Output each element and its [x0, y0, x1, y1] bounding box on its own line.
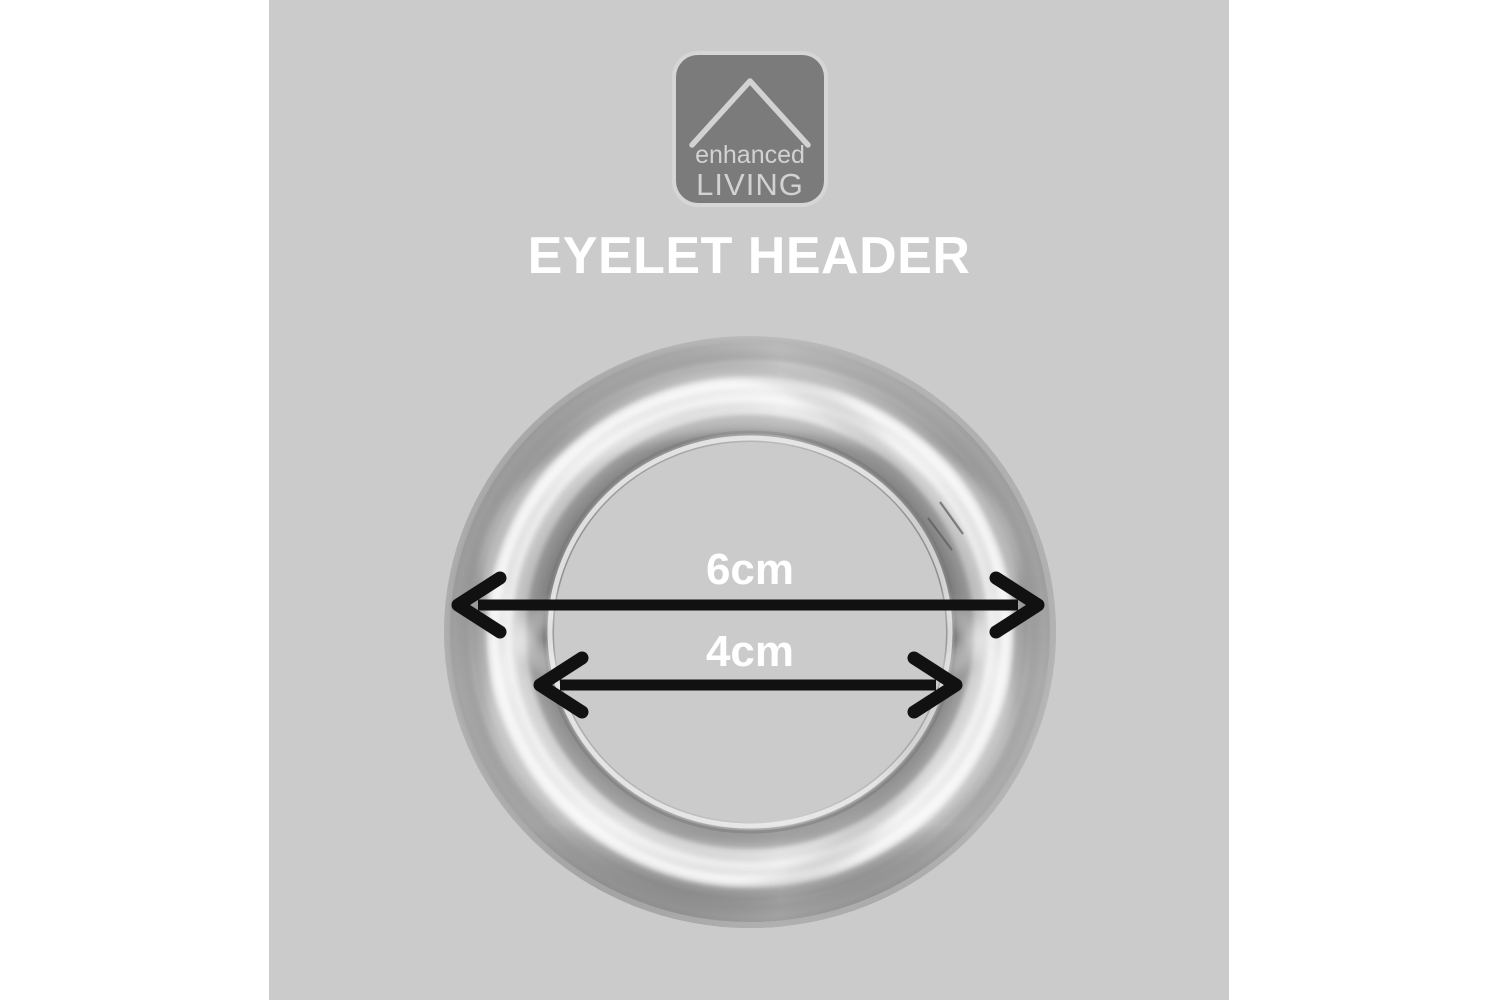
inner-diameter-label: 4cm	[630, 630, 870, 674]
brand-name-top: enhanced	[676, 143, 824, 168]
brand-name-bottom: LIVING	[676, 169, 824, 200]
product-panel: enhanced LIVING	[269, 0, 1229, 1000]
house-roof-chevron-icon	[686, 71, 814, 149]
page-title: EYELET HEADER	[269, 228, 1229, 285]
brand-logo-badge: enhanced LIVING	[676, 55, 824, 203]
outer-diameter-label: 6cm	[630, 548, 870, 592]
product-image-canvas: enhanced LIVING EYELET HEADER 6cm 4cm	[0, 0, 1500, 1000]
